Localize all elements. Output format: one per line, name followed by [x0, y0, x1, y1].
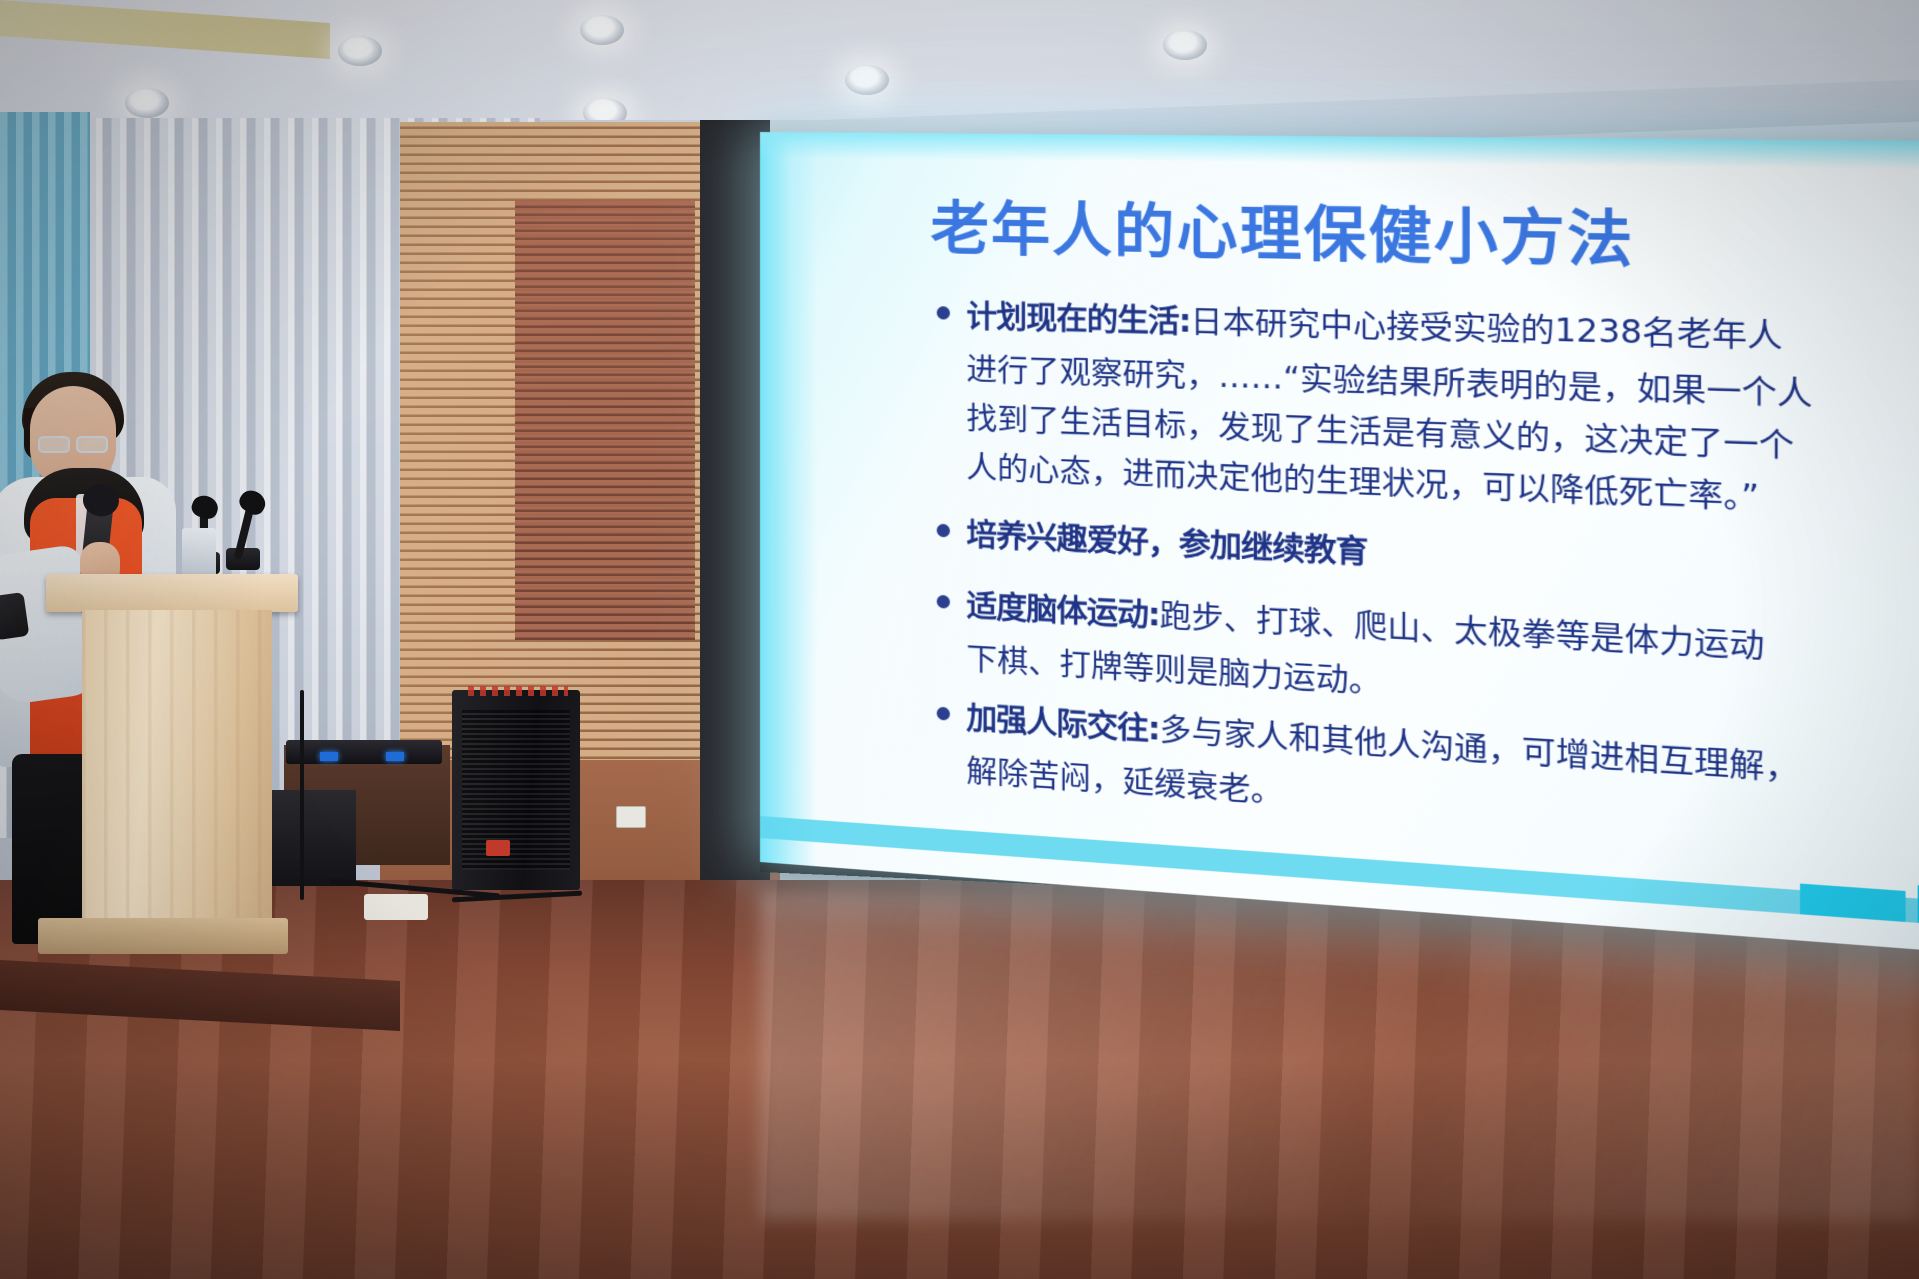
wall-outlet	[616, 806, 646, 828]
podium-base	[38, 918, 288, 954]
rack-led-indicator	[386, 752, 404, 761]
audio-rack	[286, 740, 442, 764]
ceiling-downlight-icon	[338, 36, 382, 66]
scene-photo: 老年人的心理保健小方法 计划现在的生活:日本研究中心接受实验的1238名老年人 …	[0, 0, 1919, 1279]
slide-title: 老年人的心理保健小方法	[931, 182, 1919, 288]
sleeve-patch	[0, 592, 29, 640]
podium-device	[182, 528, 216, 580]
av-cable	[300, 690, 304, 900]
bullet-dot-icon	[937, 306, 950, 320]
bullet-lead: 培养兴趣爱好，参加继续教育	[966, 517, 1367, 571]
bullet-dot-icon	[937, 707, 950, 721]
speaker-grille	[462, 710, 570, 870]
ceiling-downlight-icon	[845, 65, 889, 95]
bullet-dot-icon	[937, 524, 950, 538]
speaker-badge	[486, 840, 510, 856]
bullet-dot-icon	[937, 595, 950, 609]
bullet-lead: 加强人际交往:	[966, 700, 1159, 748]
bullet-lead: 计划现在的生活:	[966, 299, 1190, 340]
podium-top	[46, 574, 298, 612]
ceiling-downlight-icon	[125, 88, 169, 118]
wood-slat-wall-panel-dark	[515, 200, 695, 640]
glasses-icon	[38, 436, 114, 453]
bullet-rest: 日本研究中心接受实验的1238名老年人	[1190, 304, 1782, 356]
slide-bullet-list: 计划现在的生活:日本研究中心接受实验的1238名老年人 进行了观察研究，……“实…	[937, 292, 1919, 872]
bullet-lead: 适度脑体运动:	[966, 588, 1159, 634]
projection-screen: 老年人的心理保健小方法 计划现在的生活:日本研究中心接受实验的1238名老年人 …	[760, 132, 1919, 963]
screen-edge-glow	[760, 132, 818, 866]
podium	[82, 610, 272, 926]
power-strip	[364, 894, 428, 920]
floor-reflection	[760, 890, 1919, 1220]
speaker-top-trim	[468, 686, 568, 696]
ceiling-downlight-icon	[580, 15, 624, 45]
rack-led-indicator	[320, 752, 338, 761]
ceiling-downlight-icon	[1163, 30, 1207, 60]
